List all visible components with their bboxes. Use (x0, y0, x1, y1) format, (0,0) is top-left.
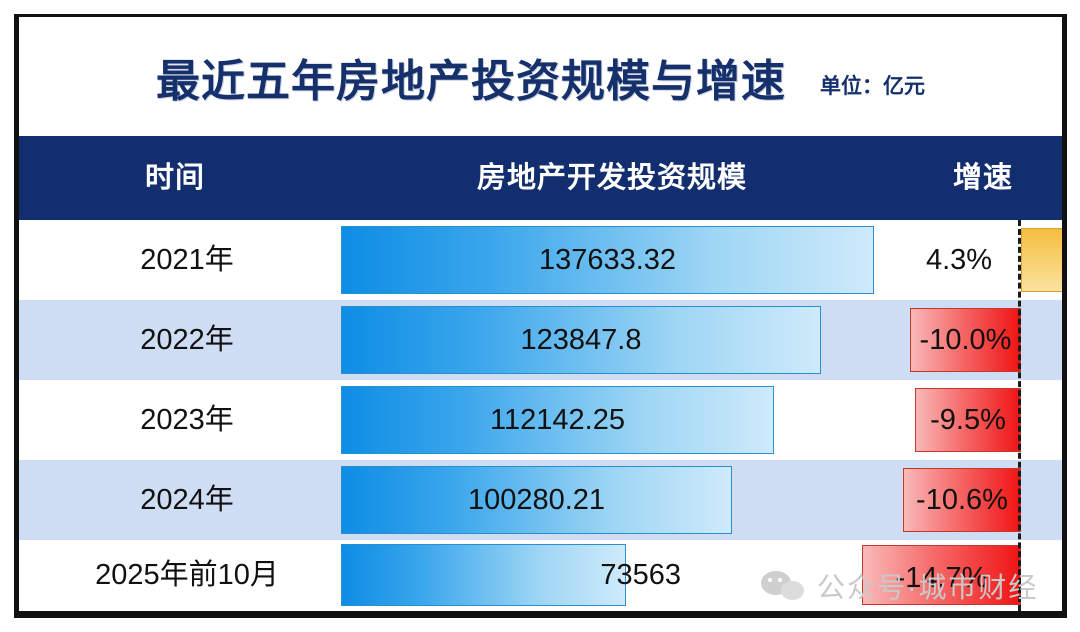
growth-value: -9.5% (915, 388, 1021, 452)
table-row: 2023年 112142.25 -9.5% (19, 380, 1062, 460)
column-header-scale: 房地产开发投资规模 (315, 136, 909, 220)
row-time-label: 2022年 (49, 300, 325, 380)
scale-value: 112142.25 (341, 386, 774, 454)
growth-value: -10.0% (910, 308, 1021, 372)
scale-value: 73563 (341, 544, 681, 606)
page-title: 最近五年房地产投资规模与增速 (156, 45, 786, 109)
growth-value: -14.7% (862, 548, 1021, 608)
row-time-label: 2023年 (49, 380, 325, 460)
table-body: 2021年 137633.32 4.3% 2022年 123847.8 -10.… (19, 220, 1062, 611)
scale-value: 123847.8 (341, 306, 821, 374)
column-header-growth: 增速 (903, 136, 1063, 220)
table-header-row: 时间 房地产开发投资规模 增速 (19, 136, 1062, 220)
scale-value: 100280.21 (341, 466, 732, 534)
table-row: 2021年 137633.32 4.3% (19, 220, 1062, 300)
row-time-label: 2024年 (49, 460, 325, 540)
table-row: 2024年 100280.21 -10.6% (19, 460, 1062, 540)
growth-value: 4.3% (899, 228, 1019, 292)
zero-axis-line (1018, 220, 1021, 611)
unit-label: 单位：亿元 (820, 70, 925, 100)
screenshot-root: 最近五年房地产投资规模与增速 单位：亿元 时间 房地产开发投资规模 增速 202… (0, 0, 1080, 632)
table-row: 2022年 123847.8 -10.0% (19, 300, 1062, 380)
scale-value: 137633.32 (341, 226, 874, 294)
title-band: 最近五年房地产投资规模与增速 单位：亿元 (19, 17, 1062, 136)
row-time-label: 2025年前10月 (49, 540, 325, 611)
table-frame: 最近五年房地产投资规模与增速 单位：亿元 时间 房地产开发投资规模 增速 202… (14, 14, 1067, 618)
table-row: 2025年前10月 73563 -14.7% (19, 540, 1062, 611)
growth-bar (1021, 228, 1067, 292)
row-time-label: 2021年 (49, 220, 325, 300)
growth-value: -10.6% (903, 468, 1021, 532)
column-header-time: 时间 (55, 136, 295, 220)
